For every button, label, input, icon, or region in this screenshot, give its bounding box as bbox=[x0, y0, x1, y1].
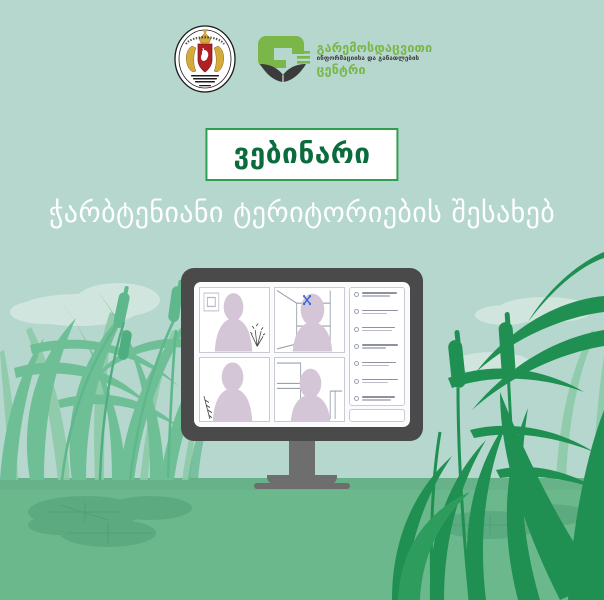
webinar-badge-label: ვებინარი bbox=[233, 137, 370, 170]
video-tile-grid bbox=[199, 287, 345, 422]
eiec-mark-icon bbox=[256, 34, 310, 84]
list-item[interactable] bbox=[354, 396, 400, 401]
georgian-coat-of-arms-icon bbox=[172, 24, 238, 94]
list-item[interactable] bbox=[354, 379, 400, 384]
eiec-logo-line3: ცენტრი bbox=[317, 63, 433, 76]
avatar bbox=[354, 361, 359, 366]
eiec-logo: გარემოსდაცვითი ინფორმაციისა და განათლები… bbox=[256, 34, 433, 84]
reeds-right-far bbox=[556, 330, 604, 480]
video-tile-top-left[interactable] bbox=[199, 287, 270, 353]
webinar-badge: ვებინარი bbox=[205, 128, 398, 181]
monitor-screen bbox=[194, 282, 410, 427]
cattails-left bbox=[62, 280, 183, 480]
participant-panel bbox=[349, 287, 405, 422]
list-item[interactable] bbox=[354, 361, 400, 366]
list-item[interactable] bbox=[354, 344, 400, 349]
video-tile-bottom-right[interactable] bbox=[274, 357, 345, 423]
monitor-bezel bbox=[181, 268, 423, 441]
list-item[interactable] bbox=[354, 327, 400, 332]
monitor-neck bbox=[289, 441, 315, 475]
avatar bbox=[354, 327, 359, 332]
avatar bbox=[354, 292, 359, 297]
avatar bbox=[354, 396, 359, 401]
list-item[interactable] bbox=[354, 292, 400, 297]
webinar-subtitle: ჭარბტენიანი ტერიტორიების შესახებ bbox=[0, 196, 604, 229]
eiec-logo-line1: გარემოსდაცვითი bbox=[317, 41, 433, 54]
list-item[interactable] bbox=[354, 309, 400, 314]
video-tile-bottom-left[interactable] bbox=[199, 357, 270, 423]
panel-footer-bar[interactable] bbox=[349, 409, 405, 422]
avatar bbox=[354, 309, 359, 314]
shore-bush-right bbox=[398, 492, 470, 600]
video-tile-top-right[interactable] bbox=[274, 287, 345, 353]
avatar bbox=[354, 379, 359, 384]
participant-list[interactable] bbox=[349, 287, 405, 406]
avatar bbox=[354, 344, 359, 349]
reeds-right-dark bbox=[392, 252, 604, 600]
webinar-poster: გარემოსდაცვითი ინფორმაციისა და განათლები… bbox=[0, 0, 604, 600]
monitor-base bbox=[254, 483, 350, 489]
lily-pads bbox=[28, 496, 588, 547]
webinar-subtitle-text: ჭარბტენიანი ტერიტორიების შესახებ bbox=[49, 196, 555, 229]
header-logos: გარემოსდაცვითი ინფორმაციისა და განათლები… bbox=[0, 24, 604, 94]
desktop-monitor bbox=[181, 268, 423, 489]
